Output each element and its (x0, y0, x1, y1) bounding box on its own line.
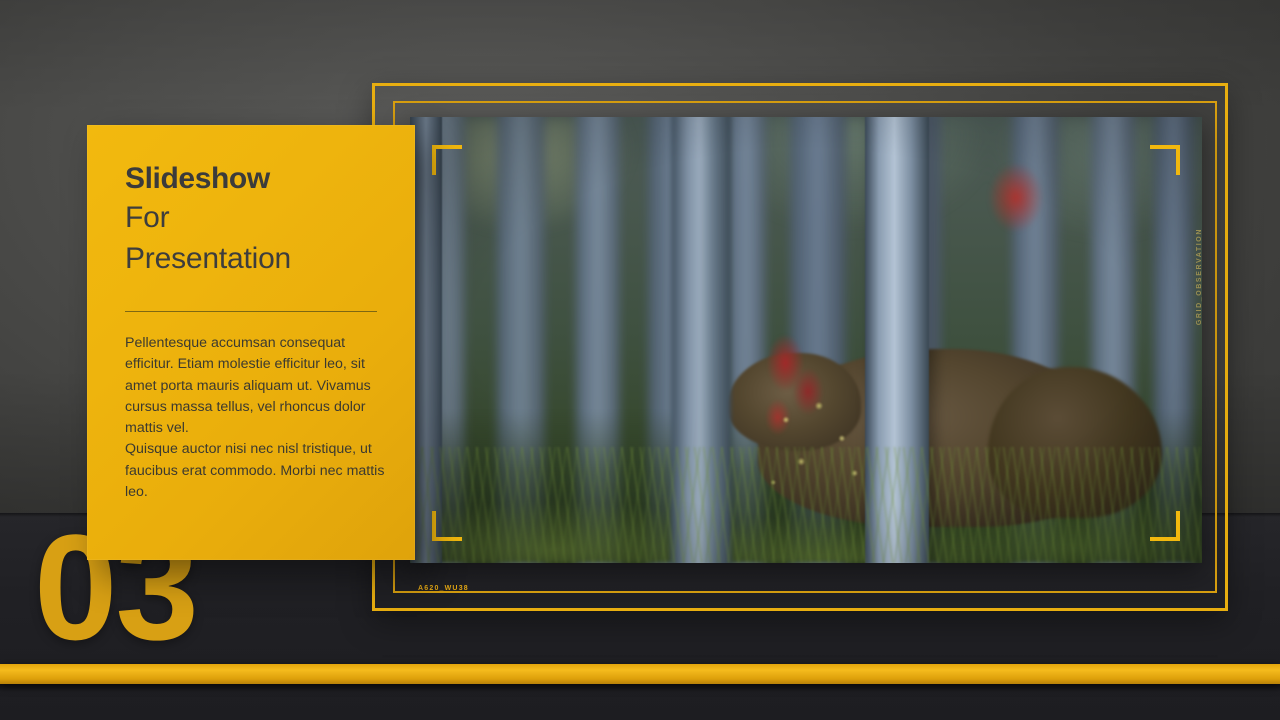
corner-bracket-top-right-icon (1150, 145, 1180, 175)
card-body-text: Pellentesque accumsan consequat efficitu… (125, 333, 397, 503)
card-divider (125, 311, 377, 312)
corner-bracket-bottom-right-icon (1150, 511, 1180, 541)
photo-vignette (410, 117, 1202, 563)
card-title-bold: Slideshow (125, 160, 387, 198)
forest-bear-photo (410, 117, 1202, 563)
corner-bracket-bottom-left-icon (432, 511, 462, 541)
card-title-line3: Presentation (125, 239, 387, 280)
title-card[interactable]: Slideshow For Presentation Pellentesque … (87, 125, 415, 560)
card-title-block: Slideshow For Presentation (125, 160, 387, 279)
photo-container[interactable] (410, 117, 1202, 563)
corner-bracket-top-left-icon (432, 145, 462, 175)
slide-stage: 03 (0, 0, 1280, 720)
card-title-line2: For (125, 198, 387, 239)
frame-code-label: A620_WU38 (418, 585, 469, 592)
gold-floor-bar-shadow (0, 684, 1280, 692)
card-body-paragraph-2: Quisque auctor nisi nec nisl tristique, … (125, 439, 397, 503)
gold-floor-bar (0, 664, 1280, 684)
frame-side-label: GRID_OBSERVATION (1196, 228, 1203, 325)
card-body-paragraph-1: Pellentesque accumsan consequat efficitu… (125, 333, 397, 439)
